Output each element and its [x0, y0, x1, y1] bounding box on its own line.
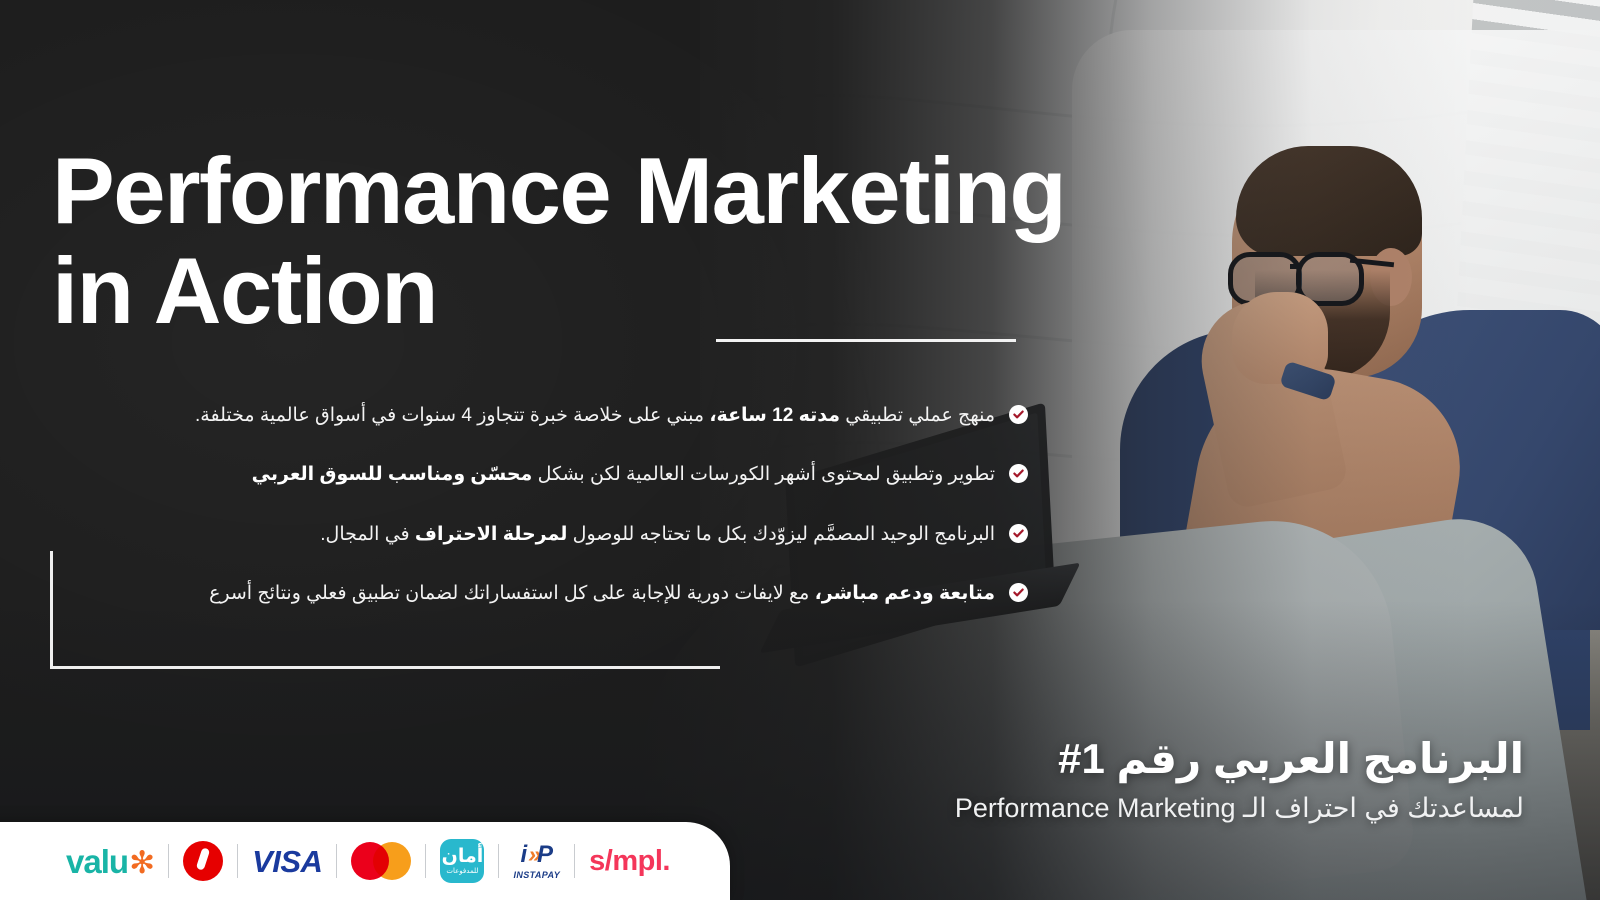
bracket-vertical-line — [50, 551, 53, 669]
check-circle-icon — [1009, 464, 1028, 483]
separator — [425, 844, 426, 878]
bracket-horizontal-line — [50, 666, 720, 669]
valu-wordmark: valu — [66, 843, 128, 880]
aman-badge-icon: أمان للمدفوعات — [440, 839, 484, 883]
bullet-pre: البرنامج الوحيد المصمَّم ليزوّدك بكل ما … — [567, 524, 995, 545]
payment-logo-sympl[interactable]: s/mpl. — [589, 839, 670, 883]
list-item-text: منهج عملي تطبيقي مدته 12 ساعة، مبني على … — [195, 400, 995, 431]
page-title: Performance Marketing in Action — [52, 141, 1172, 340]
promo-subtitle: لمساعدتك في احتراف الـ Performance Marke… — [955, 792, 1524, 826]
payment-logo-visa[interactable]: VISA — [252, 839, 322, 883]
bullet-post: مبني على خلاصة خبرة تتجاوز 4 سنوات في أس… — [195, 405, 709, 426]
headline-line-2: in Action — [52, 241, 1172, 341]
promo-block: البرنامج العربي رقم 1# لمساعدتك في احترا… — [955, 734, 1546, 825]
sympl-wordmark: s/mpl. — [589, 847, 670, 876]
bullet-bold: لمرحلة الاحتراف — [415, 524, 567, 545]
list-item-text: البرنامج الوحيد المصمَّم ليزوّدك بكل ما … — [320, 519, 995, 550]
aman-subtext: للمدفوعات — [446, 868, 478, 875]
payment-logo-mastercard[interactable] — [351, 839, 411, 883]
list-item: تطوير وتطبيق لمحتوى أشهر الكورسات العالم… — [68, 459, 1028, 490]
headline-line-1: Performance Marketing — [52, 138, 1065, 243]
bracket-decoration — [50, 551, 720, 669]
bullet-bold: محسّن ومناسب للسوق العربي — [252, 464, 533, 485]
bullet-bold: مدته 12 ساعة، — [709, 405, 840, 426]
separator — [237, 844, 238, 878]
headline-divider — [716, 339, 1016, 342]
list-item-text: تطوير وتطبيق لمحتوى أشهر الكورسات العالم… — [252, 459, 995, 490]
separator — [574, 844, 575, 878]
promo-title: البرنامج العربي رقم 1# — [955, 734, 1524, 784]
check-circle-icon — [1009, 524, 1028, 543]
payment-logo-valu[interactable]: valu✻ — [66, 839, 154, 883]
separator — [336, 844, 337, 878]
bullet-pre: تطوير وتطبيق لمحتوى أشهر الكورسات العالم… — [532, 464, 995, 485]
list-item: البرنامج الوحيد المصمَّم ليزوّدك بكل ما … — [68, 519, 1028, 550]
payment-logo-instapay[interactable]: i»P INSTAPAY — [513, 839, 560, 883]
valu-star-icon: ✻ — [129, 845, 154, 880]
payment-logo-vodafone-cash[interactable] — [183, 839, 223, 883]
payment-logo-aman[interactable]: أمان للمدفوعات — [440, 839, 484, 883]
separator — [498, 844, 499, 878]
bullet-post: في المجال. — [320, 524, 415, 545]
visa-wordmark: VISA — [252, 846, 322, 877]
vodafone-speechmark-icon — [183, 841, 223, 881]
instapay-wordmark: INSTAPAY — [513, 870, 560, 880]
check-circle-icon — [1009, 405, 1028, 424]
bullet-pre: منهج عملي تطبيقي — [840, 405, 995, 426]
list-item: منهج عملي تطبيقي مدته 12 ساعة، مبني على … — [68, 400, 1028, 431]
mastercard-circles-icon — [351, 842, 411, 880]
instapay-mark-icon: i»P — [521, 843, 553, 867]
separator — [168, 844, 169, 878]
aman-wordmark: أمان — [442, 847, 484, 866]
marketing-banner: Performance Marketing in Action منهج عمل… — [0, 0, 1600, 900]
check-circle-icon — [1009, 583, 1028, 602]
payment-methods-bar: valu✻ VISA أمان للمدفوعات — [0, 822, 730, 900]
bullet-bold: متابعة ودعم مباشر، — [815, 583, 995, 604]
